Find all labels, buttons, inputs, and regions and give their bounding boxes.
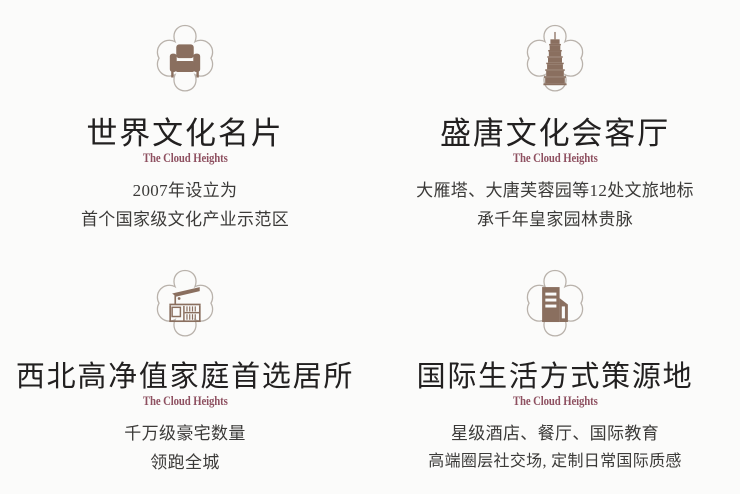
city-buildings-icon [509,265,601,357]
card-latin-subtitle: The Cloud Heights [513,152,598,165]
feature-card-world-culture: 世界文化名片 The Cloud Heights 2007年设立为 首个国家级文… [0,0,370,247]
desc-line: 高端圈层社交场, 定制日常国际质感 [428,453,681,471]
card-description: 千万级豪宅数量 领跑全城 [124,424,245,473]
card-headline: 世界文化名片 [86,118,283,149]
villa-icon [139,265,231,357]
card-latin-subtitle: The Cloud Heights [143,395,228,408]
desc-line: 星级酒店、餐厅、国际教育 [451,424,659,444]
feature-card-luxury-residence: 西北高净值家庭首选居所 The Cloud Heights 千万级豪宅数量 领跑… [0,247,370,494]
desc-line: 大雁塔、大唐芙蓉园等12处文旅地标 [416,181,694,201]
card-headline: 国际生活方式策源地 [417,363,694,392]
desc-line: 2007年设立为 [133,181,238,201]
card-description: 大雁塔、大唐芙蓉园等12处文旅地标 承千年皇家园林贵脉 [416,181,694,230]
card-description: 2007年设立为 首个国家级文化产业示范区 [81,181,289,230]
feature-card-international-lifestyle: 国际生活方式策源地 The Cloud Heights 星级酒店、餐厅、国际教育… [370,247,740,494]
desc-line: 千万级豪宅数量 [124,424,245,444]
desc-line: 承千年皇家园林贵脉 [477,210,633,230]
armchair-icon [139,20,231,112]
card-headline: 盛唐文化会客厅 [440,118,670,149]
feature-grid: 世界文化名片 The Cloud Heights 2007年设立为 首个国家级文… [0,0,740,494]
card-headline: 西北高净值家庭首选居所 [16,363,354,392]
pagoda-icon [509,20,601,112]
desc-line: 领跑全城 [150,453,219,473]
desc-line: 首个国家级文化产业示范区 [81,210,289,230]
card-description: 星级酒店、餐厅、国际教育 高端圈层社交场, 定制日常国际质感 [428,424,681,472]
card-latin-subtitle: The Cloud Heights [143,152,228,165]
card-latin-subtitle: The Cloud Heights [513,395,598,408]
feature-card-tang-culture: 盛唐文化会客厅 The Cloud Heights 大雁塔、大唐芙蓉园等12处文… [370,0,740,247]
